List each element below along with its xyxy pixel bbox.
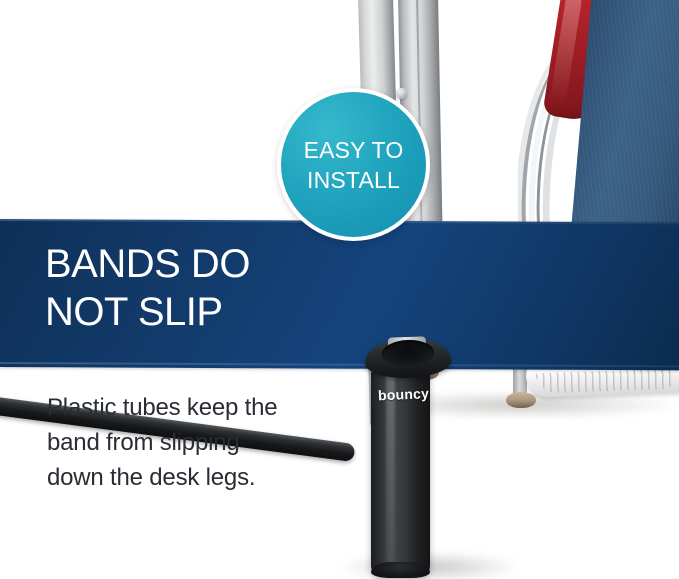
tube-floor-shadow <box>340 552 520 579</box>
description-line-2: band from slipping <box>47 425 347 460</box>
page-title: BANDS DO NOT SLIP <box>45 240 375 336</box>
plastic-tube-base <box>371 562 430 578</box>
badge-text: EASY TO INSTALL <box>304 135 404 195</box>
description-line-3: down the desk legs. <box>47 460 347 495</box>
marketing-image-canvas: BANDS DO NOT SLIP bouncy Plastic tubes k… <box>0 0 679 579</box>
badge-line-1: EASY TO <box>304 135 404 165</box>
headline-line-2: NOT SLIP <box>45 288 375 336</box>
easy-to-install-badge: EASY TO INSTALL <box>277 88 430 241</box>
description-text: Plastic tubes keep the band from slippin… <box>47 390 347 495</box>
description-line-1: Plastic tubes keep the <box>47 390 347 425</box>
desk-leg-knob <box>396 88 407 99</box>
badge-line-2: INSTALL <box>304 165 404 195</box>
headline-line-1: BANDS DO <box>45 240 375 288</box>
brand-logo: bouncy <box>378 385 441 404</box>
